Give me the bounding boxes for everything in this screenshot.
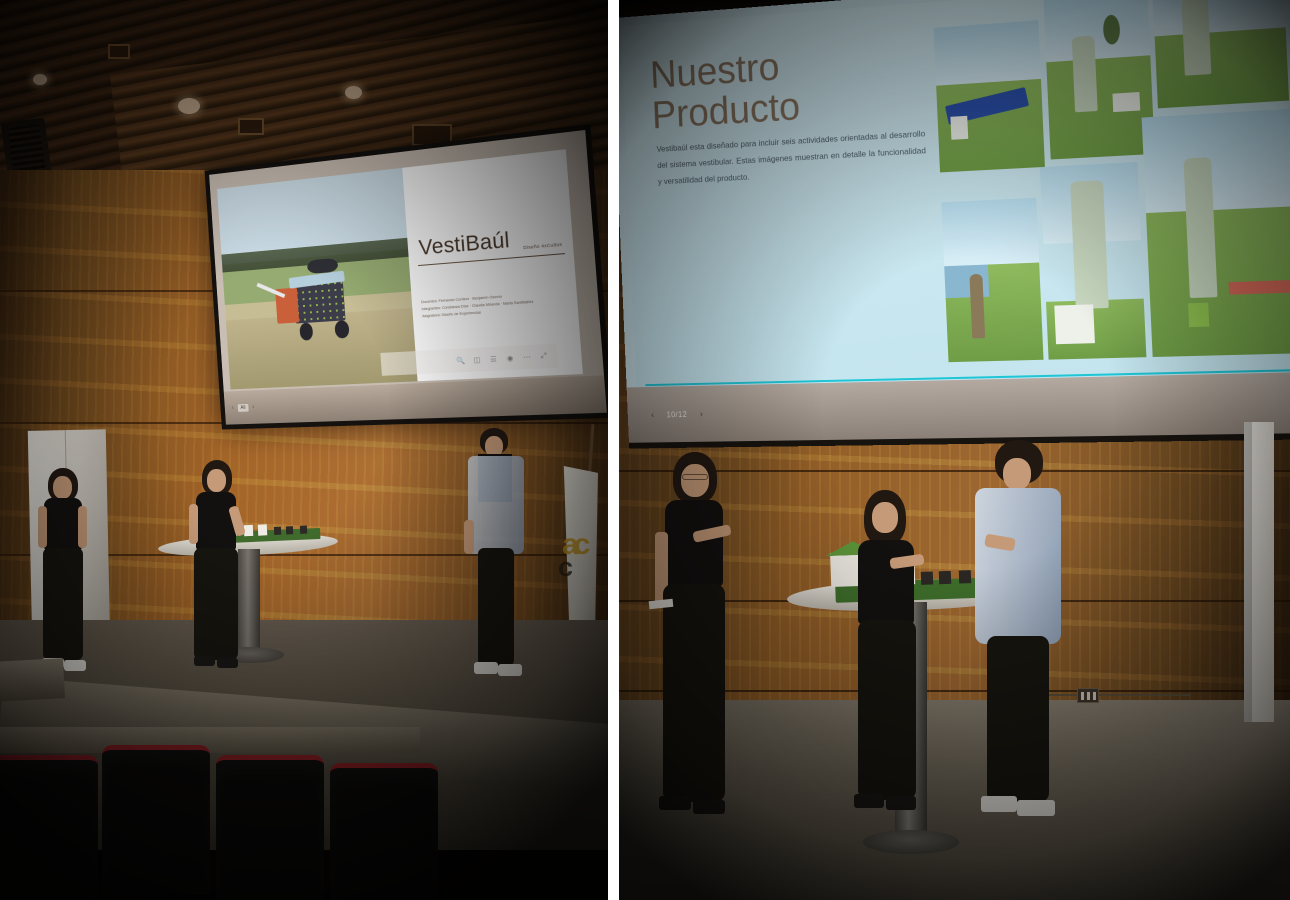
torso (44, 498, 82, 550)
photo-support-block (1112, 92, 1140, 112)
next-slide-button[interactable]: › (700, 409, 703, 419)
legs (194, 548, 238, 660)
projection-screen-left: VestiBaúl Diseño 4xCultos Docentes: Fern… (205, 124, 608, 430)
auditorium-seating-left (0, 735, 420, 900)
downlight-icon (178, 98, 200, 114)
shoe (474, 662, 498, 674)
panel-divider (608, 0, 619, 900)
seat-ledge (0, 727, 420, 753)
downlight-icon (33, 74, 47, 85)
presenter-right-edge-left-panel (462, 428, 532, 688)
arm-left (38, 506, 47, 548)
glasses-icon (682, 474, 708, 480)
shoe (217, 658, 238, 668)
shoe (659, 796, 691, 810)
torso (858, 540, 914, 624)
ceiling-fixture (108, 44, 130, 59)
model-block-dark (274, 527, 281, 535)
prev-slide-button[interactable]: ‹ (651, 410, 654, 420)
left-photo-panel: VestiBaúl Diseño 4xCultos Docentes: Fern… (0, 0, 608, 900)
shoe (194, 656, 215, 666)
presenter-center-right (844, 490, 930, 840)
photo-support-block (1188, 302, 1210, 327)
product-cart-illustration (272, 265, 366, 338)
collage-photo-child-pole (1040, 162, 1147, 359)
auditorium-seat (102, 745, 210, 895)
photo-grass (1155, 28, 1289, 109)
collage-photo-balance-beam (1141, 109, 1290, 357)
photo-support-block (950, 116, 968, 140)
flag-emblem-dark-icon: c (558, 552, 567, 583)
magnifier-icon[interactable]: 🔍 (456, 356, 466, 366)
torso (665, 500, 723, 586)
slide-title: VestiBaúl (418, 229, 511, 261)
side-table-left (0, 658, 65, 702)
slide-body-text: Vestibaúl esta diseñado para incluir sei… (656, 125, 927, 190)
model-block-dark (939, 571, 951, 584)
photo-support-block (1054, 304, 1095, 344)
face (872, 502, 898, 533)
projection-surface-right: Nuestro Producto Vestibaúl esta diseñado… (619, 0, 1290, 443)
auditorium-seat (330, 763, 438, 900)
model-block-dark (286, 526, 293, 534)
photo-sky (1043, 0, 1151, 62)
photo-figure (1070, 180, 1109, 309)
institutional-flag: ac c (556, 440, 600, 640)
auditorium-seat (216, 755, 324, 900)
slide-subtitle: Diseño 4xCultos (523, 242, 562, 251)
projection-screen-right: Nuestro Producto Vestibaúl esta diseñado… (619, 0, 1290, 449)
wall-outlet-icon (1077, 688, 1099, 703)
face (207, 469, 226, 492)
legs (478, 548, 514, 666)
legs (858, 620, 916, 800)
legs (43, 548, 83, 660)
legs (663, 584, 725, 802)
slide-title-line-2: Producto (651, 86, 801, 135)
auditorium-seat (0, 755, 98, 900)
face (53, 476, 72, 499)
photo-collage (933, 0, 1290, 369)
torso (196, 492, 236, 550)
face (1003, 458, 1031, 490)
more-options-icon[interactable]: ⋯ (522, 352, 532, 362)
roll-up-banner-right (1244, 422, 1274, 722)
model-block (258, 524, 267, 535)
shoe (498, 664, 522, 676)
presenter-with-glasses-right (651, 452, 743, 852)
arm-left (464, 520, 474, 554)
captions-icon[interactable]: ☰ (488, 354, 498, 364)
slide-two: Nuestro Producto Vestibaúl esta diseñado… (621, 0, 1290, 392)
cart-wheel (335, 320, 350, 338)
arm-left (189, 504, 198, 544)
collage-photo-lake (942, 197, 1044, 362)
slide-counter: 10/12 (666, 410, 687, 419)
photo-sky (1141, 109, 1290, 213)
prev-slide-button[interactable]: ‹ (232, 405, 234, 411)
shoe (693, 800, 725, 814)
slide-credits: Docentes: Fernando Cordero · Benjamín Os… (421, 289, 569, 321)
photo-figure (1072, 36, 1098, 113)
presenter-at-table-left (180, 460, 252, 675)
laser-pointer-icon[interactable]: ◉ (505, 353, 515, 363)
photo-composite: VestiBaúl Diseño 4xCultos Docentes: Fern… (0, 0, 1290, 900)
arm-right (78, 506, 87, 548)
photo-figure (1182, 0, 1211, 76)
fullscreen-icon[interactable]: ⤢ (539, 352, 549, 362)
photo-balance-board (1228, 280, 1290, 295)
ceiling-fixture (238, 118, 264, 135)
model-block-dark (300, 526, 307, 534)
downlight-icon (345, 86, 362, 99)
shoe (1017, 800, 1055, 816)
banner-shadow (1244, 422, 1252, 722)
cart-wheel (299, 323, 314, 341)
shoe (854, 794, 884, 808)
photo-sky (934, 20, 1042, 86)
shoe (886, 796, 916, 810)
slide-title-right: Nuestro Producto (649, 46, 800, 135)
slide-counter: All (238, 404, 249, 412)
presenter-view-icon[interactable]: ◫ (472, 355, 482, 365)
shoe (64, 660, 86, 671)
right-photo-panel: Nuestro Producto Vestibaúl esta diseñado… (619, 0, 1290, 900)
face (681, 464, 709, 497)
collage-photo-child-rope (1043, 0, 1155, 160)
presenter-standing-left (28, 468, 100, 683)
photo-sky (942, 197, 1040, 266)
collage-photo-seesaw (934, 20, 1046, 173)
projection-surface: VestiBaúl Diseño 4xCultos Docentes: Fern… (209, 130, 607, 425)
slide-one: VestiBaúl Diseño 4xCultos Docentes: Fern… (217, 149, 583, 389)
collage-photo-standing-figure (1153, 0, 1289, 109)
grey-overshirt (468, 456, 524, 554)
shoe (981, 796, 1017, 812)
denim-overshirt (975, 488, 1061, 644)
legs (987, 636, 1049, 802)
presenter-right-denim (959, 440, 1075, 850)
next-slide-button[interactable]: › (252, 404, 254, 410)
